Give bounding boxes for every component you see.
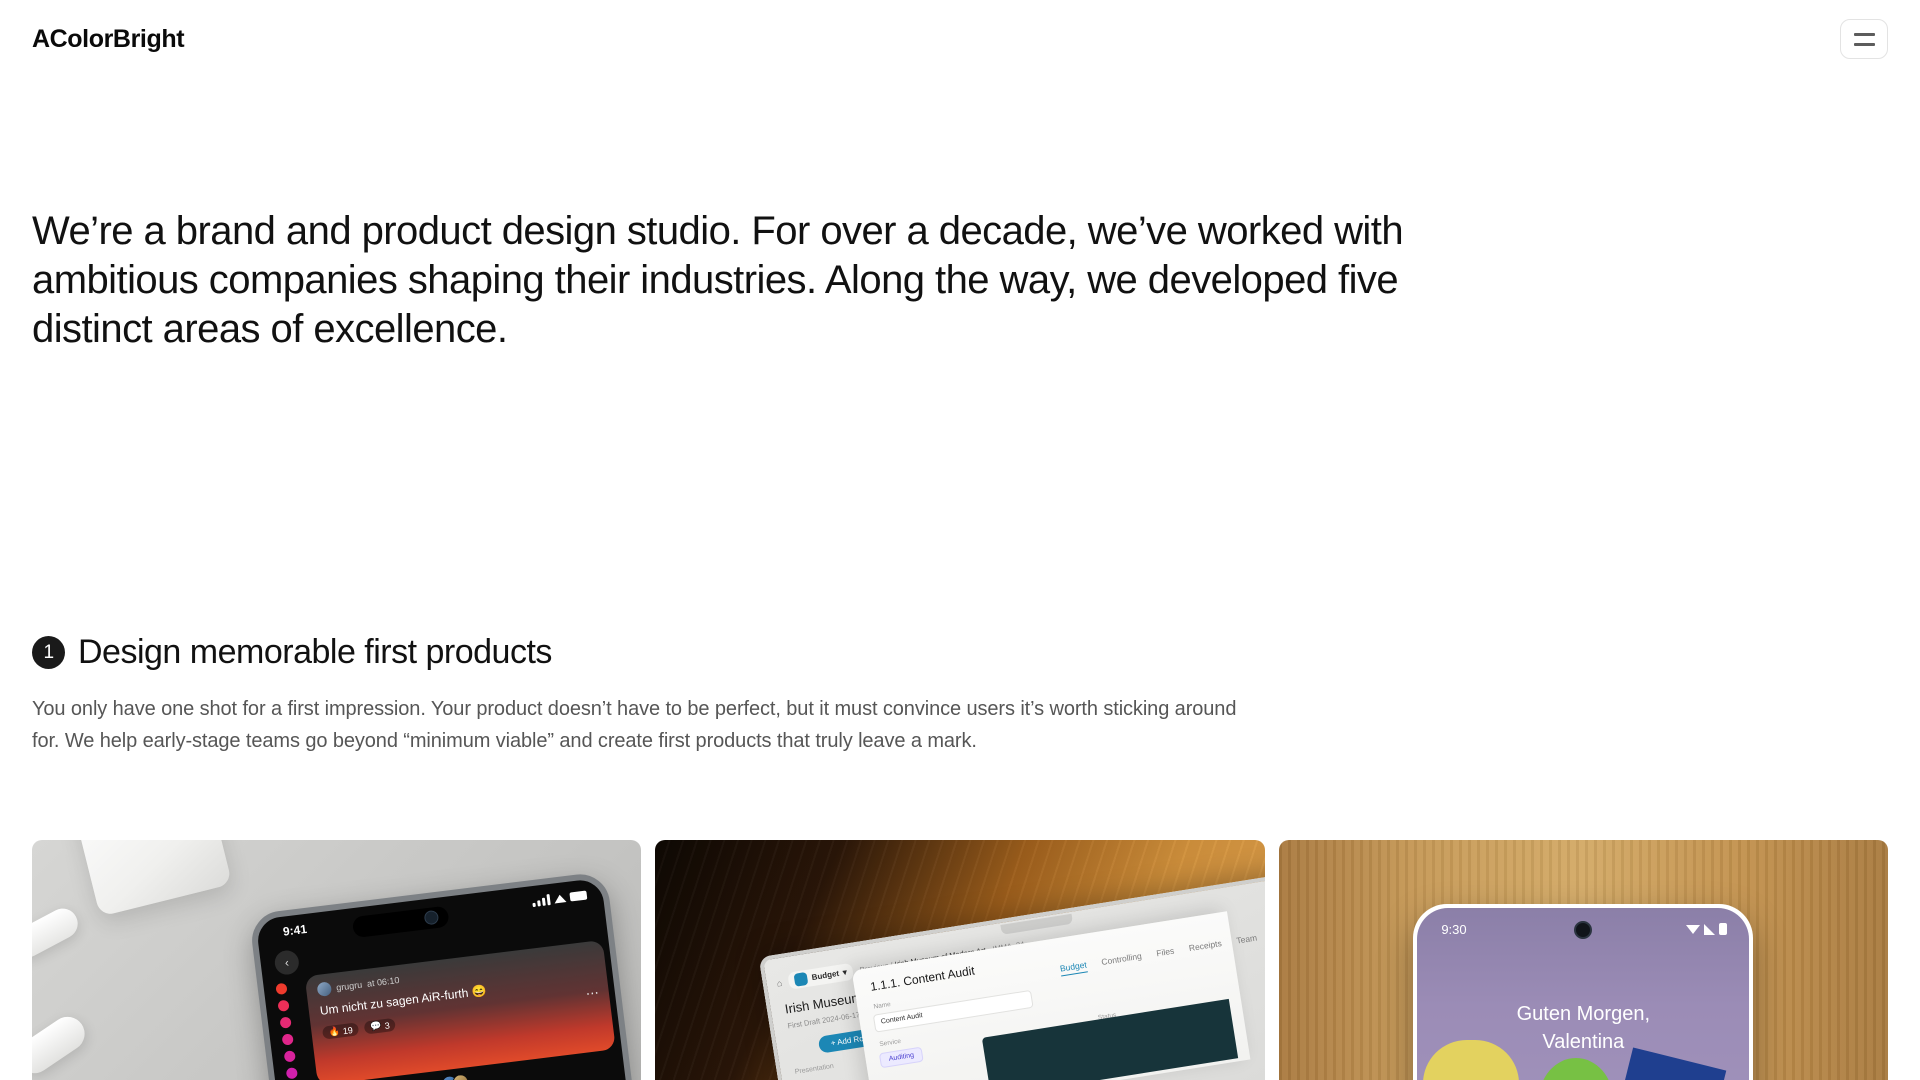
- workspace-name: Budget: [811, 969, 840, 982]
- cellular-signal-icon: [532, 894, 551, 907]
- status-indicators: [1686, 923, 1727, 935]
- workspace-selector[interactable]: Budget ▾: [788, 963, 854, 990]
- reply-avatar-stack: [446, 1073, 470, 1080]
- hero-section: We’re a brand and product design studio.…: [32, 207, 1432, 354]
- airpod-left: [32, 903, 83, 962]
- workspace-avatar: [794, 972, 809, 987]
- message-bubble[interactable]: grugru at 06:10 Um nicht zu sagen AiR-fu…: [305, 940, 616, 1080]
- message-timestamp: at 06:10: [366, 975, 400, 989]
- hamburger-icon-bar-1: [1854, 33, 1875, 36]
- reaction-fire-count: 19: [342, 1025, 353, 1036]
- field-service-label: Service: [879, 1038, 902, 1048]
- back-button[interactable]: ‹: [273, 949, 300, 976]
- section-heading-row: 1 Design memorable first products: [32, 630, 1332, 674]
- section-title: Design memorable first products: [78, 630, 552, 674]
- iphone-device: 9:41 ‹: [249, 871, 636, 1080]
- battery-icon: [1719, 923, 1727, 935]
- status-indicators: [532, 890, 588, 908]
- expertise-section-1: 1 Design memorable first products You on…: [32, 630, 1332, 757]
- airpod-right: [32, 1010, 91, 1080]
- showcase-card-iphone[interactable]: 9:41 ‹: [32, 840, 641, 1080]
- cellular-signal-icon: [1704, 924, 1715, 935]
- hamburger-icon-bar-2: [1854, 43, 1875, 46]
- field-name-input[interactable]: Content Audit: [873, 990, 1034, 1033]
- site-header: AColorBright: [0, 0, 1920, 78]
- section-number-badge: 1: [32, 636, 65, 669]
- reaction-comment-count: 3: [384, 1020, 390, 1031]
- status-time: 9:41: [282, 922, 308, 939]
- chevron-down-icon: ▾: [843, 968, 848, 978]
- section-description: You only have one shot for a first impre…: [32, 693, 1262, 757]
- field-name-label: Name: [873, 1001, 891, 1011]
- brand-logo[interactable]: AColorBright: [32, 27, 184, 52]
- reaction-comment[interactable]: 💬 3: [364, 1018, 397, 1035]
- showcase-card-android[interactable]: 9:30 Guten Morgen, Valentina: [1279, 840, 1888, 1080]
- column-label: Presentation: [795, 1063, 835, 1076]
- timeline-dots: [275, 983, 302, 1080]
- front-camera-icon: [1574, 921, 1592, 939]
- panel-title: 1.1.1. Content Audit: [870, 964, 976, 994]
- home-icon[interactable]: ⌂: [776, 977, 783, 988]
- landing-page: AColorBright We’re a brand and product d…: [0, 0, 1920, 1080]
- field-service-tag[interactable]: Auditing: [879, 1047, 924, 1069]
- battery-icon: [569, 891, 587, 902]
- wifi-icon: [1686, 925, 1700, 934]
- decorative-shape-green: [1539, 1058, 1613, 1080]
- ellipsis-icon[interactable]: ⋯: [585, 985, 601, 1003]
- android-screen: 9:30 Guten Morgen, Valentina: [1417, 908, 1749, 1080]
- message-username: grugru: [336, 980, 363, 993]
- greeting-line-1: Guten Morgen,: [1417, 1000, 1749, 1028]
- comment-icon: 💬: [370, 1020, 382, 1032]
- airpods-case: [72, 840, 233, 917]
- avatar: [317, 981, 333, 997]
- hero-heading: We’re a brand and product design studio.…: [32, 207, 1432, 354]
- status-time: 9:30: [1441, 922, 1466, 937]
- showcase-card-gallery: 9:41 ‹: [32, 840, 1888, 1080]
- fire-icon: 🔥: [328, 1026, 340, 1038]
- hamburger-menu-button[interactable]: [1840, 19, 1888, 59]
- showcase-card-laptop[interactable]: ⌂ Budget ▾ Previous / Irish Museum of Mo…: [655, 840, 1264, 1080]
- avatar: [452, 1073, 470, 1080]
- wifi-icon: [554, 894, 567, 903]
- reaction-fire[interactable]: 🔥 19: [322, 1022, 360, 1039]
- android-device: 9:30 Guten Morgen, Valentina: [1413, 904, 1753, 1080]
